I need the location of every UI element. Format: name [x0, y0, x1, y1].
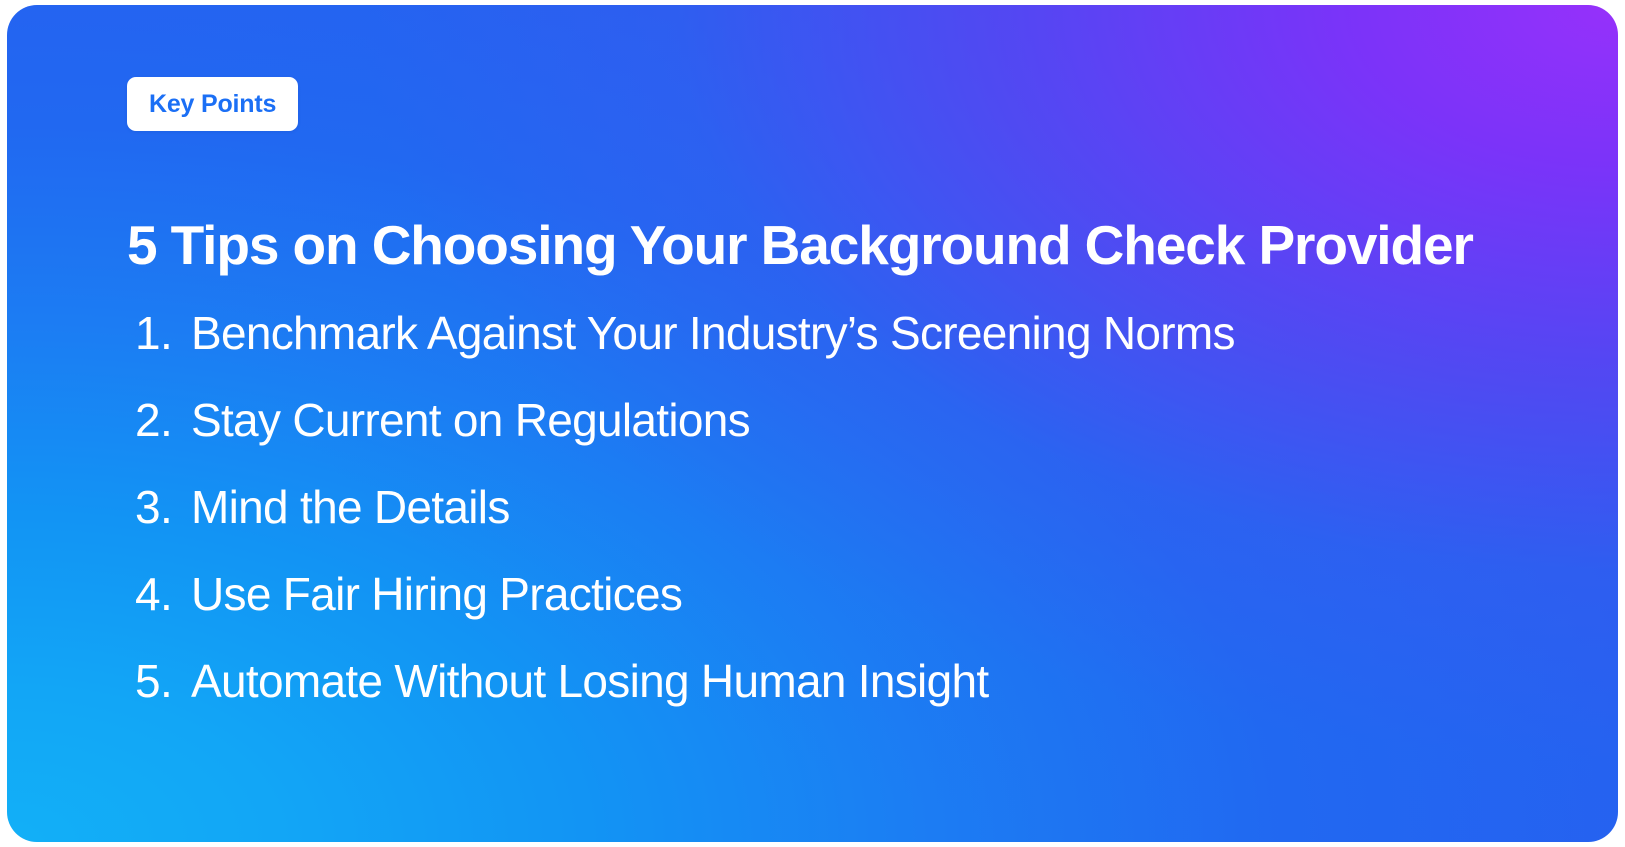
- list-item-number: 3.: [135, 484, 191, 530]
- page-title: 5 Tips on Choosing Your Background Check…: [127, 214, 1527, 277]
- list-item-label: Use Fair Hiring Practices: [191, 571, 682, 617]
- list-item: 2. Stay Current on Regulations: [135, 397, 1235, 484]
- list-item-label: Benchmark Against Your Industry’s Screen…: [191, 310, 1235, 356]
- list-item-label: Mind the Details: [191, 484, 510, 530]
- list-item: 1. Benchmark Against Your Industry’s Scr…: [135, 310, 1235, 397]
- card-content: Key Points 5 Tips on Choosing Your Backg…: [7, 5, 1618, 842]
- key-points-badge: Key Points: [127, 77, 298, 131]
- list-item: 5. Automate Without Losing Human Insight: [135, 658, 1235, 745]
- list-item-number: 1.: [135, 310, 191, 356]
- list-item-number: 5.: [135, 658, 191, 704]
- key-points-card: Key Points 5 Tips on Choosing Your Backg…: [7, 5, 1618, 842]
- list-item-number: 4.: [135, 571, 191, 617]
- key-points-badge-label: Key Points: [149, 92, 276, 117]
- list-item-label: Automate Without Losing Human Insight: [191, 658, 988, 704]
- list-item-number: 2.: [135, 397, 191, 443]
- list-item: 4. Use Fair Hiring Practices: [135, 571, 1235, 658]
- tips-list: 1. Benchmark Against Your Industry’s Scr…: [135, 310, 1235, 745]
- list-item: 3. Mind the Details: [135, 484, 1235, 571]
- list-item-label: Stay Current on Regulations: [191, 397, 750, 443]
